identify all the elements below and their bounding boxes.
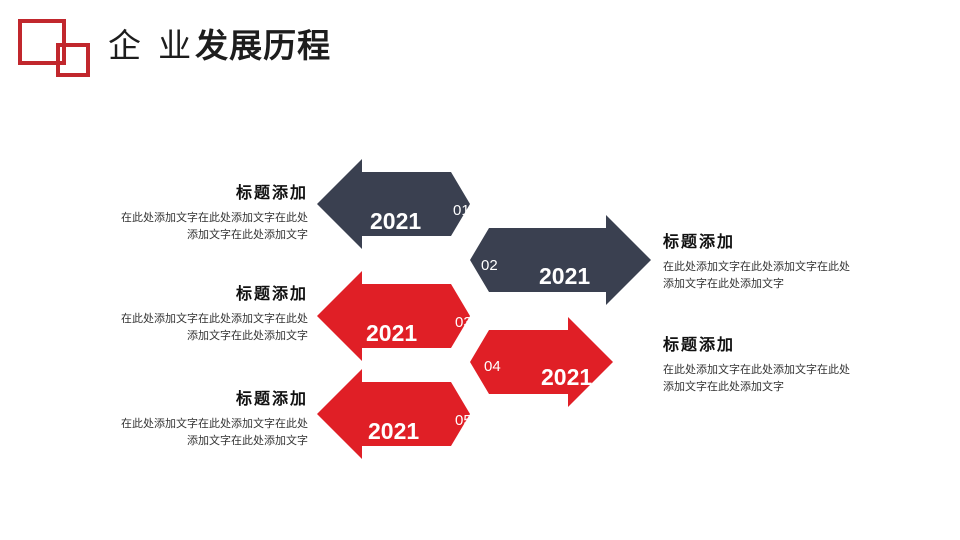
step-body-03-line1: 在此处添加文字在此处添加文字在此处 [68,311,308,328]
arrow-year-01: 2021 [370,208,421,235]
slide-canvas: 企 业发展历程 2021 01 02 2021 [0,0,960,540]
step-text-03: 标题添加 在此处添加文字在此处添加文字在此处 添加文字在此处添加文字 [68,284,308,345]
step-body-01-line2: 添加文字在此处添加文字 [68,227,308,244]
arrow-head-05 [317,369,362,459]
slide-header: 企 业发展历程 [0,0,960,100]
step-title-02: 标题添加 [663,232,903,254]
step-title-01: 标题添加 [68,183,308,205]
arrow-year-03: 2021 [366,320,417,347]
arrow-head-04 [568,317,613,407]
arrow-number-01: 01 [453,202,470,219]
overlapping-squares-logo-icon [18,19,96,77]
arrow-number-05: 05 [455,412,472,429]
step-body-04-line2: 添加文字在此处添加文字 [663,379,903,396]
arrow-year-05: 2021 [368,418,419,445]
step-body-05-line2: 添加文字在此处添加文字 [68,433,308,450]
step-text-05: 标题添加 在此处添加文字在此处添加文字在此处 添加文字在此处添加文字 [68,389,308,450]
step-text-02: 标题添加 在此处添加文字在此处添加文字在此处 添加文字在此处添加文字 [663,232,903,293]
page-title-light: 企 业 [108,27,195,64]
step-body-01-line1: 在此处添加文字在此处添加文字在此处 [68,210,308,227]
step-body-03-line2: 添加文字在此处添加文字 [68,328,308,345]
step-title-04: 标题添加 [663,335,903,357]
arrow-head-01 [317,159,362,249]
step-body-04-line1: 在此处添加文字在此处添加文字在此处 [663,362,903,379]
page-title: 企 业发展历程 [108,26,331,66]
step-title-05: 标题添加 [68,389,308,411]
step-title-03: 标题添加 [68,284,308,306]
logo-square-small [56,43,90,77]
page-title-bold: 发展历程 [195,27,331,64]
arrow-head-03 [317,271,362,361]
step-body-02-line2: 添加文字在此处添加文字 [663,276,903,293]
step-body-02-line1: 在此处添加文字在此处添加文字在此处 [663,259,903,276]
step-text-04: 标题添加 在此处添加文字在此处添加文字在此处 添加文字在此处添加文字 [663,335,903,396]
step-text-01: 标题添加 在此处添加文字在此处添加文字在此处 添加文字在此处添加文字 [68,183,308,244]
step-body-05-line1: 在此处添加文字在此处添加文字在此处 [68,416,308,433]
arrow-number-04: 04 [484,358,501,375]
arrow-year-02: 2021 [539,263,590,290]
arrow-number-02: 02 [481,257,498,274]
arrow-year-04: 2021 [541,364,592,391]
arrow-head-02 [606,215,651,305]
arrow-number-03: 03 [455,314,472,331]
